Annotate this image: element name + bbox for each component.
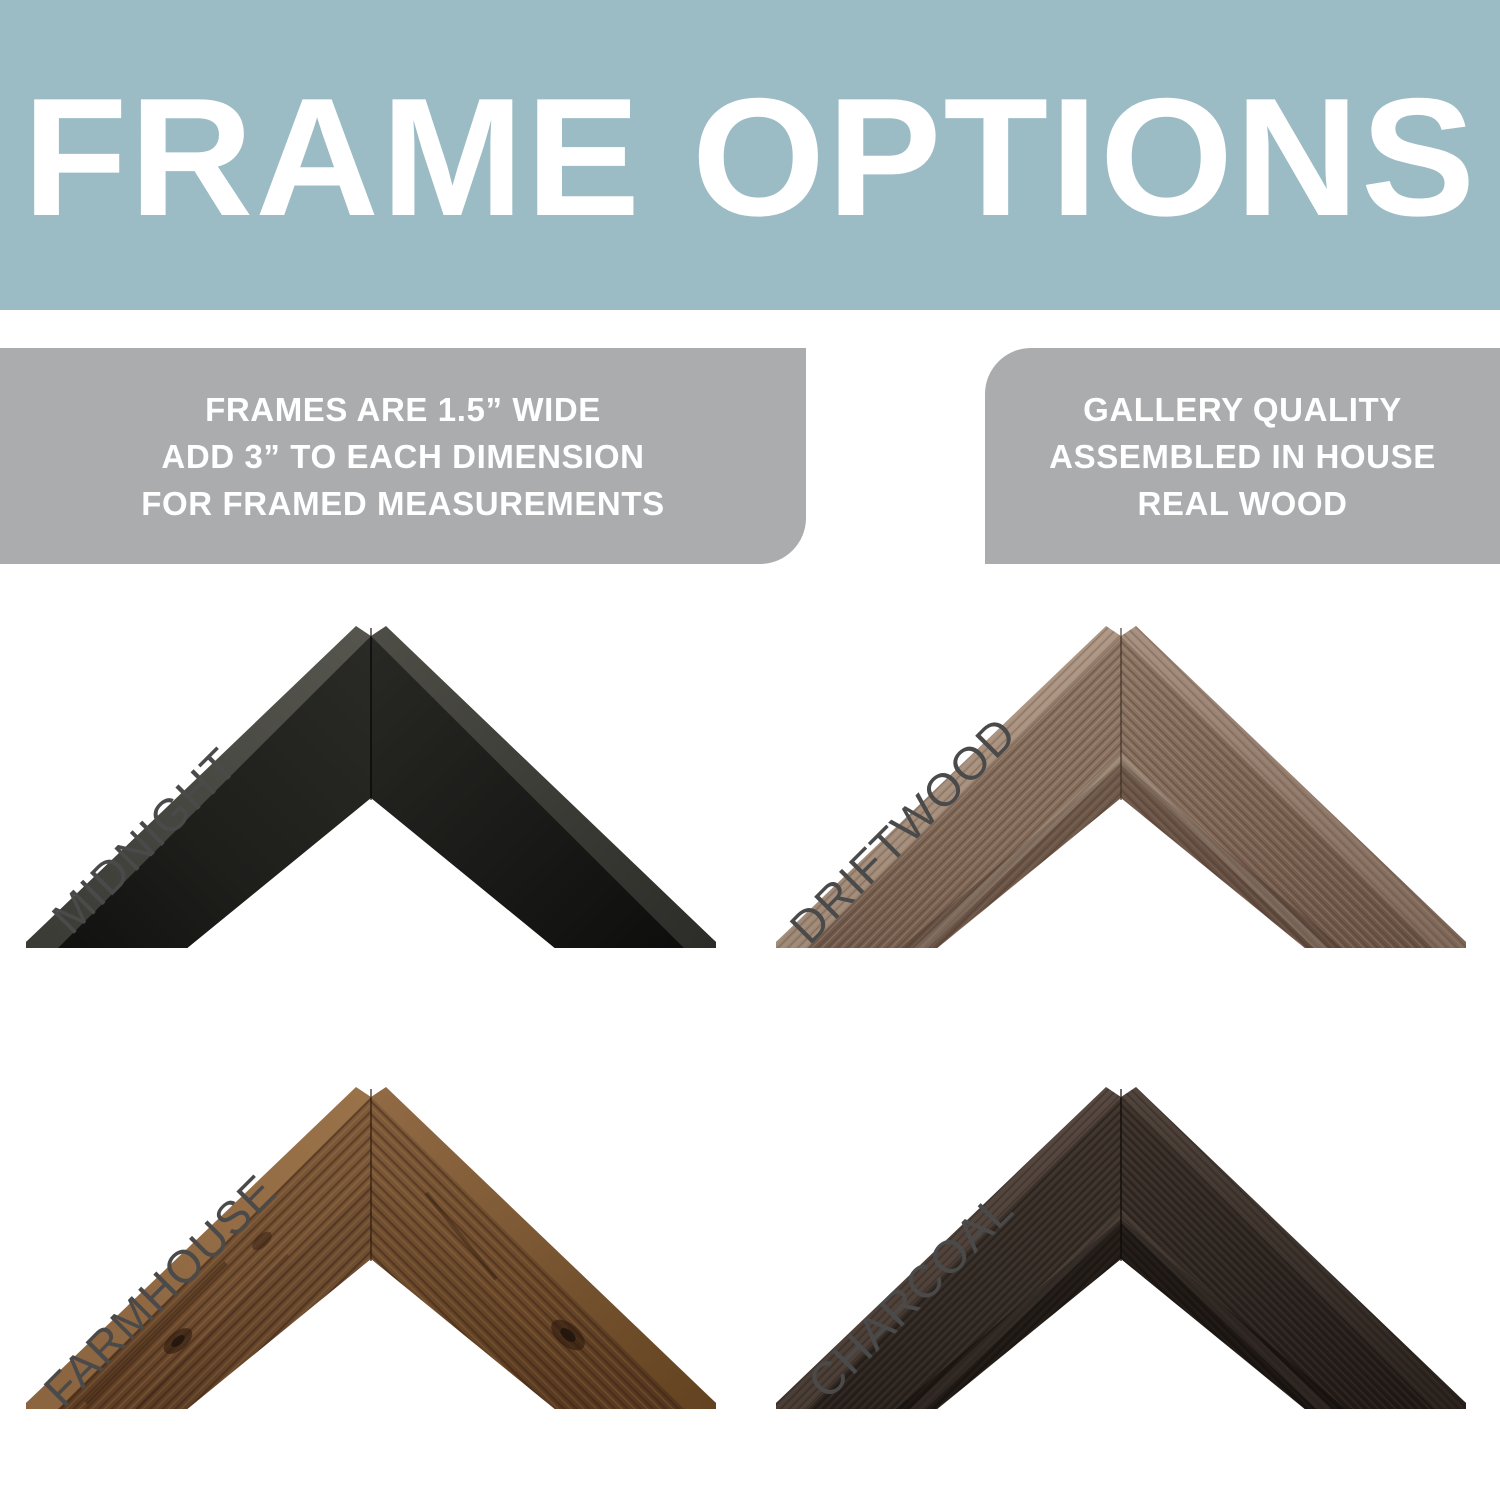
quality-info-line-3: REAL WOOD [1137, 480, 1347, 527]
midnight-frame-corner-icon [26, 612, 716, 948]
quality-info-line-2: ASSEMBLED IN HOUSE [1049, 433, 1436, 480]
quality-info-line-1: GALLERY QUALITY [1083, 386, 1402, 433]
sizing-info-line-3: FOR FRAMED MEASUREMENTS [141, 480, 664, 527]
info-panels-row: FRAMES ARE 1.5” WIDE ADD 3” TO EACH DIME… [0, 348, 1500, 564]
sizing-info-line-1: FRAMES ARE 1.5” WIDE [205, 386, 601, 433]
frame-option-driftwood[interactable]: DRIFTWOOD [750, 578, 1500, 1039]
frame-option-charcoal[interactable]: CHARCOAL [750, 1039, 1500, 1500]
frame-samples-grid: MIDNIGHT [0, 578, 1500, 1500]
frame-option-midnight[interactable]: MIDNIGHT [0, 578, 750, 1039]
driftwood-frame-corner-icon [776, 612, 1466, 948]
page-header-banner: FRAME OPTIONS [0, 0, 1500, 310]
sizing-info-panel: FRAMES ARE 1.5” WIDE ADD 3” TO EACH DIME… [0, 348, 806, 564]
quality-info-panel: GALLERY QUALITY ASSEMBLED IN HOUSE REAL … [985, 348, 1500, 564]
page-title: FRAME OPTIONS [23, 73, 1478, 241]
frame-option-farmhouse[interactable]: FARMHOUSE [0, 1039, 750, 1500]
sizing-info-line-2: ADD 3” TO EACH DIMENSION [161, 433, 644, 480]
